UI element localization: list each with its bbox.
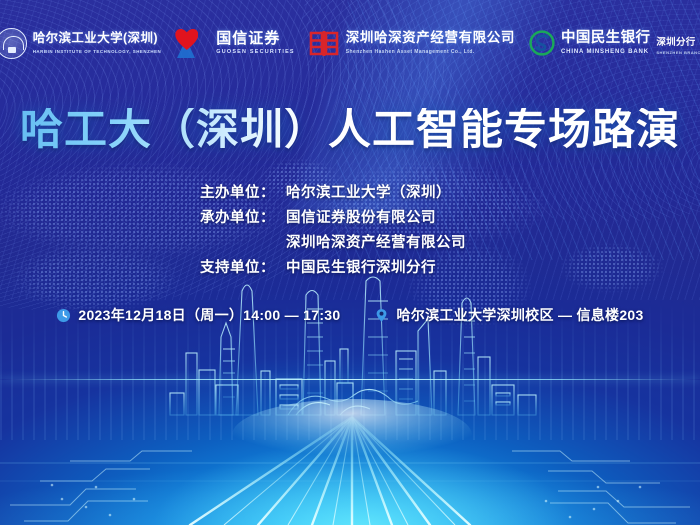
minsheng-name-cn: 中国民生银行	[561, 31, 650, 46]
organizer-row: 主办单位：哈尔滨工业大学（深圳）	[0, 181, 700, 206]
organizer-row: 深圳哈深资产经营有限公司	[0, 231, 700, 256]
event-meta-bar: 2023年12月18日（周一）14:00 — 17:30 哈尔滨工业大学深圳校区…	[0, 305, 700, 325]
minsheng-name-en: CHINA MINSHENG BANK	[561, 49, 650, 55]
sponsor-logo-hit-shenzhen: 哈尔滨工业大学(深圳) HARBIN INSTITUTE OF TECHNOLO…	[0, 28, 161, 59]
sponsor-logo-hashen-asset: 深圳哈深资产经营有限公司 Shenzhen Hashen Asset Manag…	[309, 30, 515, 57]
organizer-label: 主办单位：	[200, 181, 286, 206]
sponsor-logo-china-minsheng-bank: 中国民生银行 CHINA MINSHENG BANK 深圳分行 SHENZHEN…	[529, 30, 700, 56]
organizer-label: 支持单位：	[200, 256, 286, 281]
organizer-row: 支持单位：中国民生银行深圳分行	[0, 256, 700, 281]
organizer-value: 中国民生银行深圳分行	[286, 260, 436, 276]
event-location-text: 哈尔滨工业大学深圳校区 — 信息楼203	[396, 305, 643, 325]
organizer-label: 承办单位：	[200, 206, 286, 231]
hit-name-en: HARBIN INSTITUTE OF TECHNOLOGY, SHENZHEN	[33, 49, 162, 54]
guosen-name-cn: 国信证券	[216, 31, 294, 47]
organizer-row: 承办单位：国信证券股份有限公司	[0, 206, 700, 231]
minsheng-s-icon	[529, 30, 555, 56]
hit-name-cn: 哈尔滨工业大学(深圳)	[33, 32, 162, 46]
minsheng-branch-en: SHENZHEN BRANCH	[656, 50, 700, 55]
event-location: 哈尔滨工业大学深圳校区 — 信息楼203	[374, 305, 643, 325]
hit-seal-icon	[0, 28, 27, 59]
event-poster: 哈尔滨工业大学(深圳) HARBIN INSTITUTE OF TECHNOLO…	[0, 0, 700, 525]
minsheng-branch-cn: 深圳分行	[656, 38, 700, 48]
guosen-name-en: GUOSEN SECURITIES	[216, 49, 294, 55]
organizer-block: 主办单位：哈尔滨工业大学（深圳） 承办单位：国信证券股份有限公司 深圳哈深资产经…	[0, 181, 700, 281]
sponsor-logo-bar: 哈尔滨工业大学(深圳) HARBIN INSTITUTE OF TECHNOLO…	[0, 0, 700, 86]
map-pin-icon	[374, 308, 389, 323]
hashen-name-en: Shenzhen Hashen Asset Management Co., Lt…	[346, 49, 515, 55]
sponsor-logo-guosen-securities: 国信证券 GUOSEN SECURITIES	[175, 26, 294, 60]
organizer-value: 深圳哈深资产经营有限公司	[200, 235, 466, 251]
event-datetime-text: 2023年12月18日（周一）14:00 — 17:30	[78, 305, 340, 325]
horizon-line	[0, 379, 700, 380]
organizer-value: 国信证券股份有限公司	[286, 210, 436, 226]
event-datetime: 2023年12月18日（周一）14:00 — 17:30	[56, 305, 340, 325]
clock-icon	[56, 308, 71, 323]
guosen-heart-icon	[175, 26, 209, 60]
hashen-name-cn: 深圳哈深资产经营有限公司	[346, 31, 515, 45]
hashen-seal-icon	[309, 30, 339, 57]
organizer-value: 哈尔滨工业大学（深圳）	[286, 185, 451, 201]
poster-title: 哈工大（深圳）人工智能专场路演	[0, 108, 700, 154]
